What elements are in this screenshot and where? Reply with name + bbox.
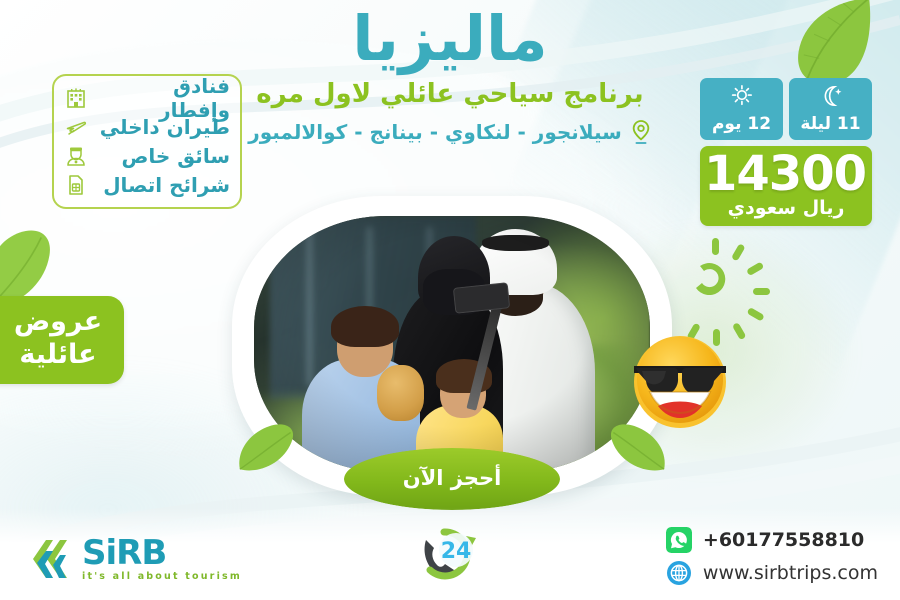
feature-label: سائق خاص xyxy=(96,144,230,168)
book-now-button[interactable]: أحجز الآن xyxy=(344,448,560,510)
sunglasses-smiley-emoji xyxy=(628,330,732,434)
logo-wordmark: SiRB xyxy=(82,536,242,570)
photo-vignette xyxy=(254,216,650,472)
destinations-line: سيلانجور - لنكاوي - بينانج - كوالالمبور xyxy=(0,119,900,145)
feature-item-sim: شرائح اتصال xyxy=(64,170,230,199)
whatsapp-contact-row[interactable]: +60177558810 xyxy=(666,527,878,553)
feature-label: شرائح اتصال xyxy=(96,173,230,197)
logo-text-block: SiRB it's all about tourism xyxy=(82,536,242,582)
book-now-label: أحجز الآن xyxy=(344,448,560,510)
poster-root: ماليزيا برنامج سياحي عائلي لاول مره سيلا… xyxy=(0,0,900,600)
offers-line-1: عروض xyxy=(6,306,110,339)
whatsapp-number: +60177558810 xyxy=(703,529,864,551)
offers-line-2: عائلية xyxy=(6,339,110,372)
price-amount: 14300 xyxy=(706,150,866,199)
driver-icon xyxy=(64,144,88,168)
contact-info: +60177558810 www.sirbtrips.com xyxy=(666,527,878,586)
price-card: 14300 ريال سعودي xyxy=(700,146,872,226)
family-selfie-photo: أحجز الآن xyxy=(232,196,672,496)
whatsapp-icon xyxy=(666,527,692,553)
globe-icon xyxy=(666,560,692,586)
photo-image xyxy=(254,216,650,472)
logo-tagline: it's all about tourism xyxy=(82,571,242,582)
website-url: www.sirbtrips.com xyxy=(703,562,878,584)
footer: SiRB it's all about tourism 24 +60177558… xyxy=(0,508,900,600)
leaf-icon xyxy=(236,422,298,478)
page-title: ماليزيا xyxy=(0,6,900,71)
destinations-text: سيلانجور - لنكاوي - بينانج - كوالالمبور xyxy=(248,120,622,144)
headline-block: ماليزيا برنامج سياحي عائلي لاول مره سيلا… xyxy=(0,6,900,145)
website-contact-row[interactable]: www.sirbtrips.com xyxy=(666,560,878,586)
price-currency: ريال سعودي xyxy=(706,197,866,219)
family-offers-badge: عروض عائلية xyxy=(0,296,124,384)
page-subtitle: برنامج سياحي عائلي لاول مره xyxy=(0,79,900,109)
sirb-logo-mark-icon xyxy=(26,537,72,581)
feature-item-driver: سائق خاص xyxy=(64,141,230,170)
location-pin-icon xyxy=(630,119,652,145)
brand-logo: SiRB it's all about tourism xyxy=(26,536,242,582)
sim-card-icon xyxy=(64,173,88,197)
support-24-7-icon: 24 xyxy=(414,522,486,588)
support-24-label: 24 xyxy=(441,539,472,564)
